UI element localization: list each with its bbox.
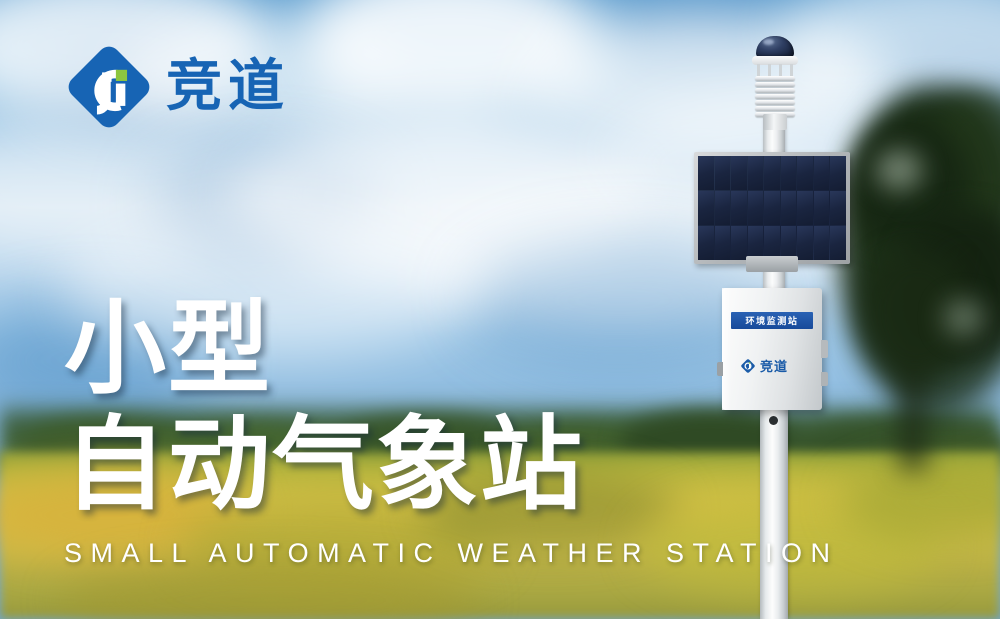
solar-panel-bracket xyxy=(746,256,798,272)
headline-line-2: 自动气象站 xyxy=(64,412,584,520)
solar-panel-frame xyxy=(694,152,850,264)
sensor-neck xyxy=(763,114,787,130)
jingdao-diamond-logo-icon xyxy=(740,358,756,374)
tree-light-gap xyxy=(944,300,984,336)
enclosure-banner-label: 环境监测站 xyxy=(745,314,798,327)
solar-panel xyxy=(694,152,850,264)
enclosure-latch xyxy=(821,340,828,358)
dome-highlight xyxy=(763,39,774,45)
ultrasonic-weather-sensor xyxy=(744,36,806,128)
brand-name: 竞道 xyxy=(166,59,290,115)
radiation-shield xyxy=(755,76,795,116)
enclosure-brand-logo: 竞道 xyxy=(740,356,788,375)
jingdao-diamond-logo-icon xyxy=(66,44,152,130)
enclosure-latch xyxy=(821,372,828,386)
tree-light-gap xyxy=(876,150,922,190)
control-enclosure: 环境监测站 竞道 xyxy=(722,288,822,410)
enclosure-body xyxy=(722,288,822,410)
sensor-dome-icon xyxy=(756,36,794,58)
hero-subtitle: SMALL AUTOMATIC WEATHER STATION xyxy=(64,538,839,569)
enclosure-banner: 环境监测站 xyxy=(731,312,813,329)
headline-line-1: 小型 xyxy=(64,296,584,404)
solar-panel-cells xyxy=(698,156,846,260)
brand-logo[interactable]: 竞道 xyxy=(66,44,290,130)
enclosure-hinge xyxy=(717,362,723,376)
enclosure-brand-name: 竞道 xyxy=(760,356,788,375)
mounting-pole-lower xyxy=(760,410,788,619)
enclosure-edge xyxy=(722,288,731,410)
banner-stage: 环境监测站 竞道 xyxy=(0,0,1000,619)
pole-bolt xyxy=(769,416,778,425)
hero-headline: 小型 自动气象站 xyxy=(64,296,584,520)
